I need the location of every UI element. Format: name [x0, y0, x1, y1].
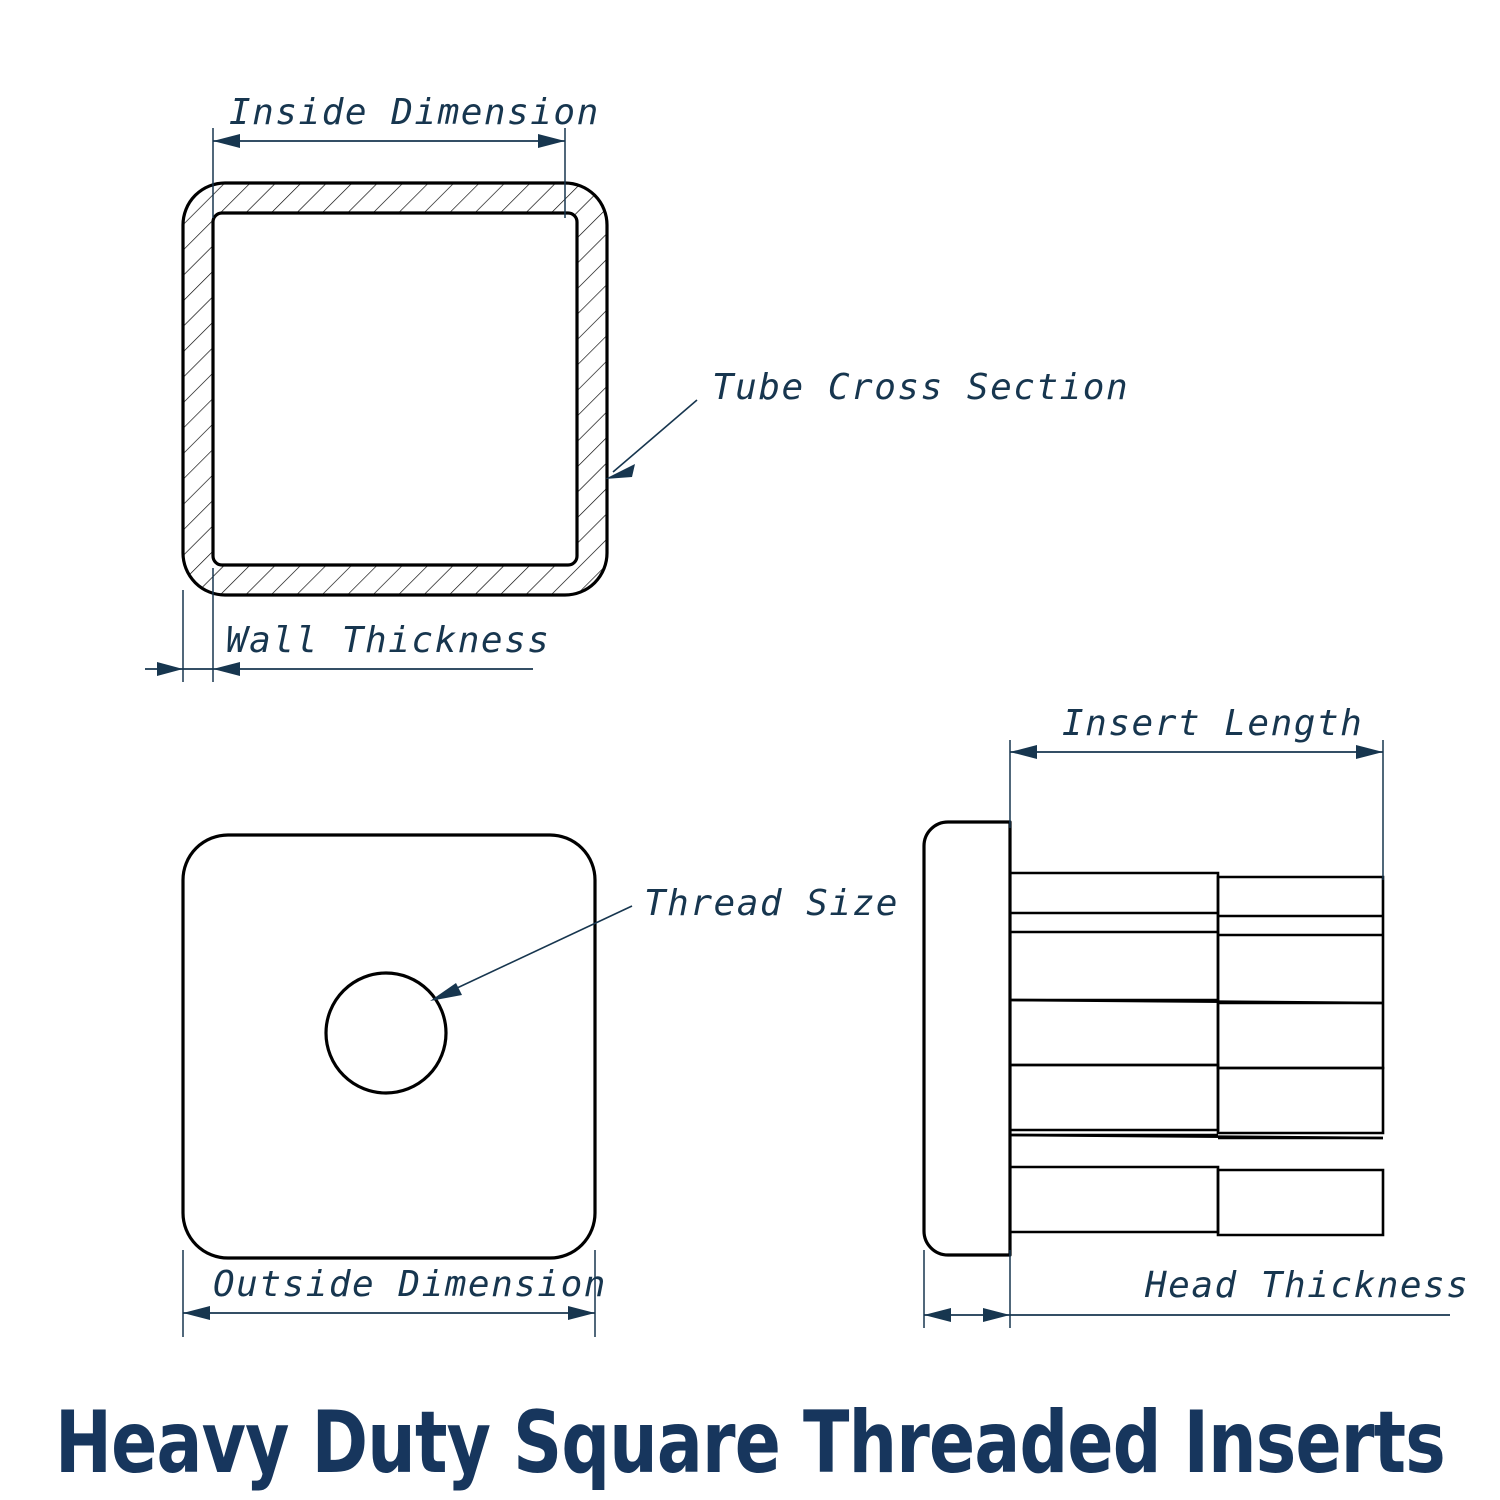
tube-outer-profile — [183, 183, 607, 595]
dimension-head-thickness: Head Thickness — [924, 1250, 1469, 1328]
technical-drawing-canvas: Inside Dimension Tube Cross Section Wall… — [0, 0, 1500, 1500]
insert-front-outline — [183, 835, 595, 1258]
leader-line — [613, 400, 697, 472]
arrow-head-left — [157, 662, 183, 676]
rib-upper-left — [1010, 873, 1218, 1065]
dimension-outside-dimension: Outside Dimension — [183, 1250, 607, 1337]
arrow-head-right — [983, 1308, 1010, 1322]
split-line-upper — [1010, 1000, 1383, 1003]
arrow-head-left — [213, 134, 240, 148]
arrow-head-right — [568, 1306, 595, 1320]
page-title: Heavy Duty Square Threaded Inserts — [55, 1393, 1445, 1493]
drawing-sheet: Inside Dimension Tube Cross Section Wall… — [0, 0, 1500, 1500]
label-insert-length: Insert Length — [1062, 703, 1363, 744]
arrow-head-right — [538, 134, 565, 148]
leader-line — [440, 906, 632, 996]
rib-bottom-left — [1010, 1167, 1218, 1232]
label-thread-size: Thread Size — [644, 883, 899, 924]
label-outside-dimension: Outside Dimension — [213, 1264, 607, 1305]
thread-hole-circle — [326, 973, 446, 1093]
callout-tube-cross-section: Tube Cross Section — [605, 367, 1129, 479]
arrow-head-right — [1356, 745, 1383, 759]
label-inside-dimension: Inside Dimension — [229, 92, 600, 133]
label-tube-cross-section: Tube Cross Section — [712, 367, 1129, 408]
label-wall-thickness: Wall Thickness — [226, 620, 550, 661]
insert-body-profile — [1010, 873, 1383, 1235]
rib-bottom-right — [1218, 1170, 1383, 1235]
leader-arrow-head — [430, 983, 462, 1001]
view-insert-front: Thread Size Outside Dimension — [183, 835, 899, 1337]
label-head-thickness: Head Thickness — [1144, 1265, 1469, 1306]
rib-lower-left — [1010, 1065, 1218, 1130]
arrow-head-left — [1010, 745, 1037, 759]
split-line-lower — [1010, 1135, 1383, 1138]
tube-inner-profile — [213, 213, 577, 565]
arrow-head-left — [183, 1306, 210, 1320]
callout-thread-size: Thread Size — [430, 883, 899, 1001]
view-tube-cross-section: Inside Dimension Tube Cross Section Wall… — [145, 92, 1129, 682]
arrow-head-left — [924, 1308, 951, 1322]
insert-head-flange — [924, 822, 1010, 1255]
dimension-insert-length: Insert Length — [1010, 703, 1383, 880]
rib-lower-right — [1218, 1068, 1383, 1133]
arrow-head-right — [213, 662, 240, 676]
rib-upper-right — [1218, 877, 1383, 1068]
view-insert-side: Insert Length Head Thickness — [924, 703, 1469, 1328]
